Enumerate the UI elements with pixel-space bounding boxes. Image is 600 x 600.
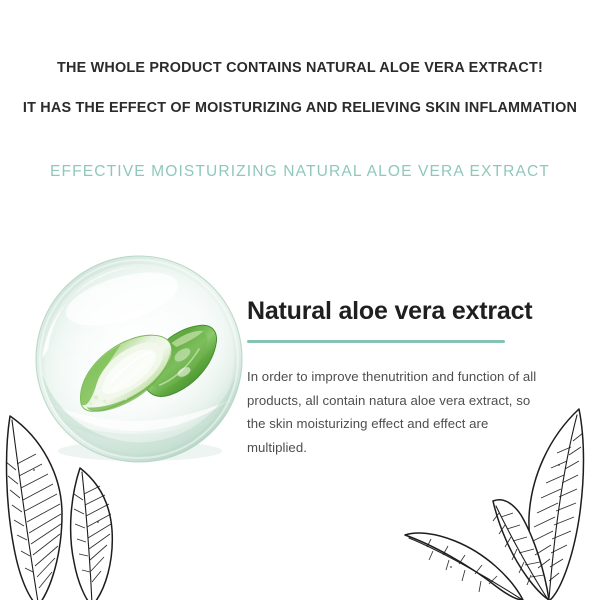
headline-block: THE WHOLE PRODUCT CONTAINS NATURAL ALOE …	[0, 58, 600, 118]
aloe-vera-product-poster: THE WHOLE PRODUCT CONTAINS NATURAL ALOE …	[0, 0, 600, 600]
content-column: Natural aloe vera extract In order to im…	[247, 296, 567, 459]
headline-line-1: THE WHOLE PRODUCT CONTAINS NATURAL ALOE …	[0, 58, 600, 78]
headline-line-2: IT HAS THE EFFECT OF MOISTURIZING AND RE…	[0, 98, 600, 118]
content-title: Natural aloe vera extract	[247, 296, 567, 326]
title-divider-rule	[247, 340, 505, 343]
subheadline: EFFECTIVE MOISTURIZING NATURAL ALOE VERA…	[0, 163, 600, 181]
content-body-text: In order to improve thenutrition and fun…	[247, 365, 539, 459]
aloe-gel-droplet-image	[34, 254, 244, 464]
